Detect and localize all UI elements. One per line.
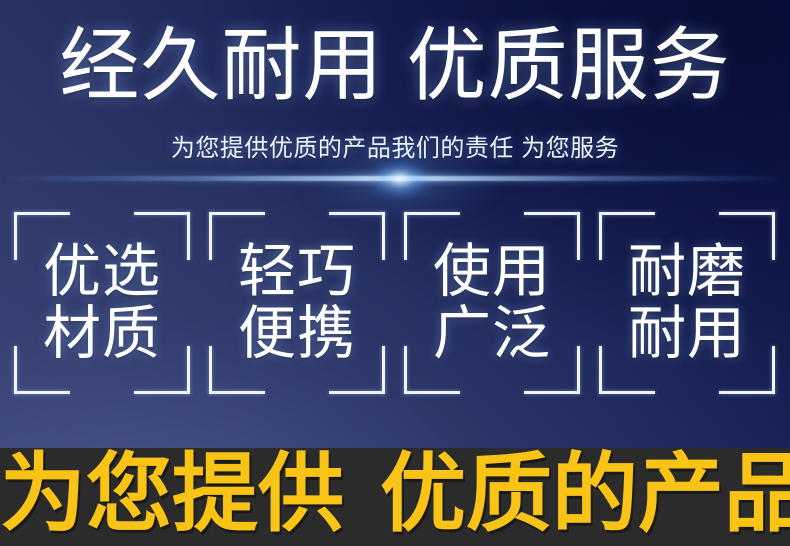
feature-box-1-text: 优选 材质 — [14, 212, 190, 394]
feature-box-1-line1: 优选 — [43, 241, 161, 303]
feature-box-group: 优选 材质 轻巧 便携 使用 广泛 — [0, 212, 790, 394]
page-subtitle: 为您提供优质的产品我们的责任 为您服务 — [0, 133, 790, 165]
feature-box-4-text: 耐磨 耐用 — [599, 212, 775, 394]
feature-box-4: 耐磨 耐用 — [599, 212, 775, 394]
footer-banner: 为您提供优质的产品 — [0, 448, 790, 546]
page-title: 经久耐用 优质服务 — [0, 20, 790, 112]
feature-box-3-line1: 使用 — [433, 241, 551, 303]
feature-box-3: 使用 广泛 — [404, 212, 580, 394]
promo-banner: 经久耐用 优质服务 为您提供优质的产品我们的责任 为您服务 优选 材质 轻巧 便… — [0, 0, 790, 546]
feature-box-4-line1: 耐磨 — [628, 241, 746, 303]
feature-box-1: 优选 材质 — [14, 212, 190, 394]
feature-box-2-line1: 轻巧 — [238, 241, 356, 303]
feature-box-2: 轻巧 便携 — [209, 212, 385, 394]
feature-box-3-line2: 广泛 — [433, 303, 551, 365]
feature-box-1-line2: 材质 — [43, 303, 161, 365]
footer-slogan: 为您提供优质的产品 — [0, 448, 790, 546]
footer-slogan-part2: 优质的产品 — [380, 448, 790, 542]
footer-slogan-part1: 为您提供 — [0, 448, 344, 542]
feature-box-2-line2: 便携 — [238, 303, 356, 365]
feature-box-3-text: 使用 广泛 — [404, 212, 580, 394]
feature-box-4-line2: 耐用 — [628, 303, 746, 365]
feature-box-2-text: 轻巧 便携 — [209, 212, 385, 394]
